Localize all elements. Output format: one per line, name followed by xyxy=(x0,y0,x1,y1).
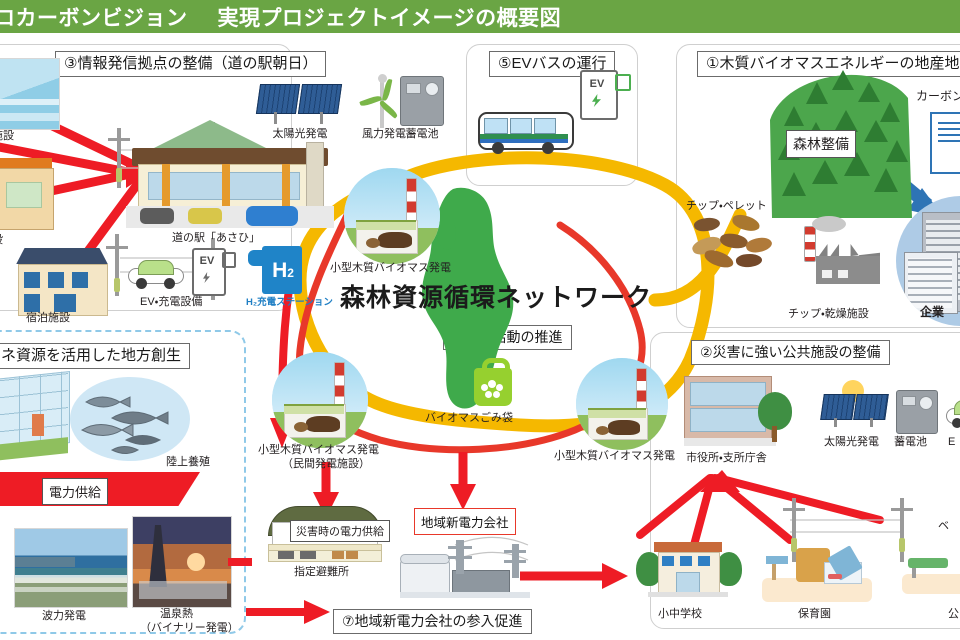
utility-pole-c xyxy=(110,234,124,296)
caption-land-aquaculture: 陸上養殖 xyxy=(166,456,210,469)
illus-battery-1 xyxy=(400,76,444,126)
illus-ev-charger: EV xyxy=(190,248,234,294)
illus-michinoeki xyxy=(126,120,334,230)
utility-pole-a xyxy=(112,128,126,188)
illus-nursery xyxy=(762,534,872,606)
illus-ev-car-1 xyxy=(126,256,184,288)
illus-certificate xyxy=(930,112,960,174)
badge-small-biomass-1 xyxy=(344,168,440,264)
illus-greenhouse xyxy=(0,378,68,466)
caption-small-biomass-3: 小型木質バイオマス発電 xyxy=(554,450,675,463)
caption-lodging: 宿泊施設 xyxy=(26,312,70,325)
caption-wave-power: 波力発電 xyxy=(42,610,86,623)
illus-h2-station: H2 xyxy=(248,246,304,296)
illus-roadside-shop xyxy=(0,148,56,232)
caption-michinoeki: 道の駅「あさひ」 xyxy=(172,232,260,245)
label-shelter-power: 災害時の電力供給 xyxy=(290,520,390,542)
photo-wave-power xyxy=(14,528,128,608)
illus-solar-panel-2 xyxy=(822,382,892,426)
caption-shelter: 指定避難所 xyxy=(294,566,349,579)
caption-company: 企業 xyxy=(920,306,944,320)
caption-small-biomass-2-line1: 小型木質バイオマス発電 xyxy=(258,444,379,457)
caption-chip-drying: チップ・乾燥施設 xyxy=(788,308,869,321)
caption-park-cut: 公 xyxy=(948,608,959,621)
badge-small-biomass-2 xyxy=(272,352,368,448)
caption-carbon: カーボン xyxy=(916,90,960,104)
caption-hotspring-1: 温泉熱 xyxy=(160,608,193,621)
caption-ev-charge: EV・充電設備 xyxy=(140,296,202,309)
caption-pole-right: ベ xyxy=(938,520,949,533)
label-new-power-company: 地域新電力会社 xyxy=(414,508,516,535)
illus-city-hall xyxy=(684,368,790,448)
illus-ev-bus xyxy=(478,110,570,158)
caption-h2-station: H₂充電ステーション xyxy=(246,298,333,309)
caption-hotspring-2: （バイナリー発電） xyxy=(140,622,239,635)
network-title: 森林資源循環ネットワーク xyxy=(340,278,652,314)
illus-lodging xyxy=(10,248,114,316)
caption-nursery: 保育園 xyxy=(798,608,831,621)
illus-elementary-school xyxy=(636,534,740,606)
caption-chip-pellet: チップ・ペレット xyxy=(686,200,767,213)
caption-battery-1: 蓄電池 xyxy=(400,128,444,141)
caption-solar-2: 太陽光発電 xyxy=(824,436,879,449)
caption-ev-2: E xyxy=(948,436,955,449)
caption-facility-top: 施設 xyxy=(0,130,14,143)
illus-aquaculture xyxy=(68,374,192,464)
photo-hotspring xyxy=(132,516,232,608)
illus-wind-turbine xyxy=(360,62,404,128)
photo-facility-pool xyxy=(0,58,60,130)
illus-wood-chips xyxy=(688,216,784,272)
caption-biomass-bag: バイオマスごみ袋 xyxy=(425,412,513,425)
section-heading-2: ②災害に強い公共施設の整備 xyxy=(691,340,890,365)
illus-chip-drying-plant xyxy=(794,222,880,288)
section-heading-3: ③情報発信拠点の整備（道の駅朝日） xyxy=(55,51,326,77)
illus-biomass-garbage-bag xyxy=(470,358,516,410)
section-heading-7: ⑦地域新電力会社の参入促進 xyxy=(333,609,532,634)
badge-small-biomass-3 xyxy=(576,358,668,450)
caption-city-hall: 市役所・支所庁舎 xyxy=(686,452,767,465)
illus-park xyxy=(902,540,960,604)
illus-ev-car-2 xyxy=(944,396,960,428)
caption-small-biomass-2-line2: （民間発電施設） xyxy=(282,458,370,471)
diagram-canvas: ロカーボンビジョン 実現プロジェクトイメージの概要図 xyxy=(0,0,960,640)
caption-facility-mid: 設 xyxy=(0,234,3,247)
section-heading-4: ネ資源を活用した地方創生 xyxy=(0,343,190,369)
caption-small-biomass-1: 小型木質バイオマス発電 xyxy=(330,262,451,275)
caption-battery-2: 蓄電池 xyxy=(894,436,927,449)
illus-substation xyxy=(400,540,530,602)
label-shelter-power-text: 災害時の電力供給 xyxy=(296,526,384,538)
label-power-supply: 電力供給 xyxy=(42,478,108,505)
illus-battery-2 xyxy=(896,390,938,434)
caption-elementary-school: 小中学校 xyxy=(658,608,702,621)
illus-ev-bus-charger: EV xyxy=(578,70,630,124)
label-forest-maintenance: 森林整備 xyxy=(786,130,856,158)
connector-red-dash xyxy=(228,558,252,566)
